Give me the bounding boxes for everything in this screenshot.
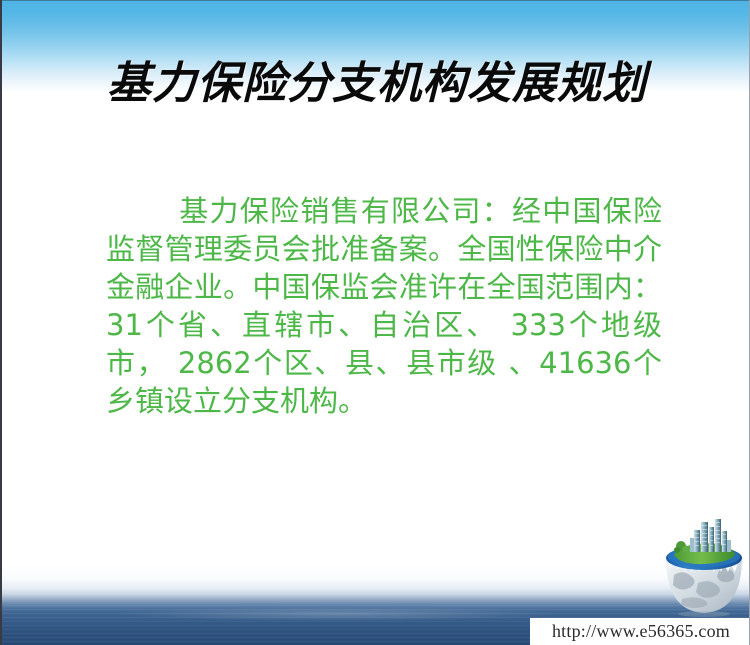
slide-body-text: 基力保险销售有限公司：经中国保险监督管理委员会批准备案。全国性保险中介金融企业。… bbox=[106, 194, 662, 418]
watermark-url: http://www.e56365.com bbox=[552, 621, 730, 642]
slide-canvas: 基力保险分支机构发展规划 基力保险销售有限公司：经中国保险监督管理委员会批准备案… bbox=[0, 0, 750, 645]
slide-top-border bbox=[2, 0, 750, 1]
slide-body-paragraph: 基力保险销售有限公司：经中国保险监督管理委员会批准备案。全国性保险中介金融企业。… bbox=[106, 192, 662, 420]
slide-title: 基力保险分支机构发展规划 bbox=[2, 60, 750, 108]
globe-city-icon bbox=[662, 513, 746, 617]
watermark-box: http://www.e56365.com bbox=[530, 618, 750, 645]
water-sheen-highlight bbox=[122, 607, 552, 621]
globe-city-logo bbox=[662, 513, 746, 617]
